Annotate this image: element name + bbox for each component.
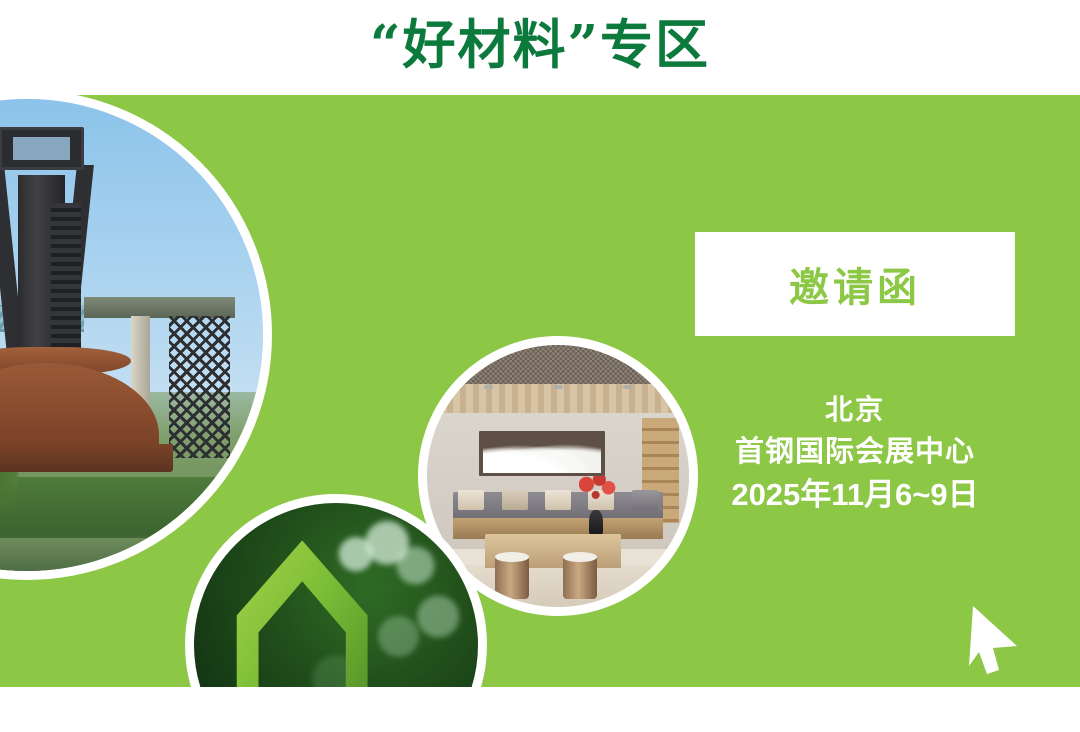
- furnace-head-frame: [0, 127, 84, 169]
- mouse-pointer-icon[interactable]: [955, 600, 1025, 680]
- ceiling-light: [623, 385, 632, 389]
- mountain-artwork: [479, 431, 605, 476]
- dome-skirt: [0, 444, 173, 472]
- ceiling-light: [484, 385, 493, 389]
- green-panel: 邀请函 北京 首钢国际会展中心 2025年11月6~9日: [0, 95, 1080, 687]
- bronze-stool: [495, 555, 529, 600]
- invitation-poster: “好材料”专区: [0, 0, 1080, 732]
- cushions: [458, 486, 657, 510]
- venue-place: 首钢国际会展中心: [695, 431, 1015, 473]
- ceiling-lights: [453, 382, 663, 392]
- right-truss: [169, 316, 230, 458]
- ceiling-light: [554, 385, 563, 389]
- cushion: [502, 490, 528, 510]
- venue-date: 2025年11月6~9日: [695, 473, 1015, 518]
- invitation-label: 邀请函: [789, 255, 921, 313]
- grass-house-icon: [234, 537, 370, 687]
- photo-green-house-in-hand: [185, 494, 487, 687]
- cushion: [632, 490, 658, 510]
- blast-furnace-illustration: [0, 99, 263, 571]
- venue-info: 北京 首钢国际会展中心 2025年11月6~9日: [695, 390, 1015, 518]
- invitation-badge: 邀请函: [695, 232, 1015, 336]
- venue-city: 北京: [695, 390, 1015, 431]
- bronze-stool: [563, 555, 597, 600]
- black-vase: [589, 510, 602, 536]
- header-band: “好材料”专区: [0, 0, 1080, 95]
- cushion: [545, 490, 571, 510]
- page-title: “好材料”专区: [370, 19, 710, 72]
